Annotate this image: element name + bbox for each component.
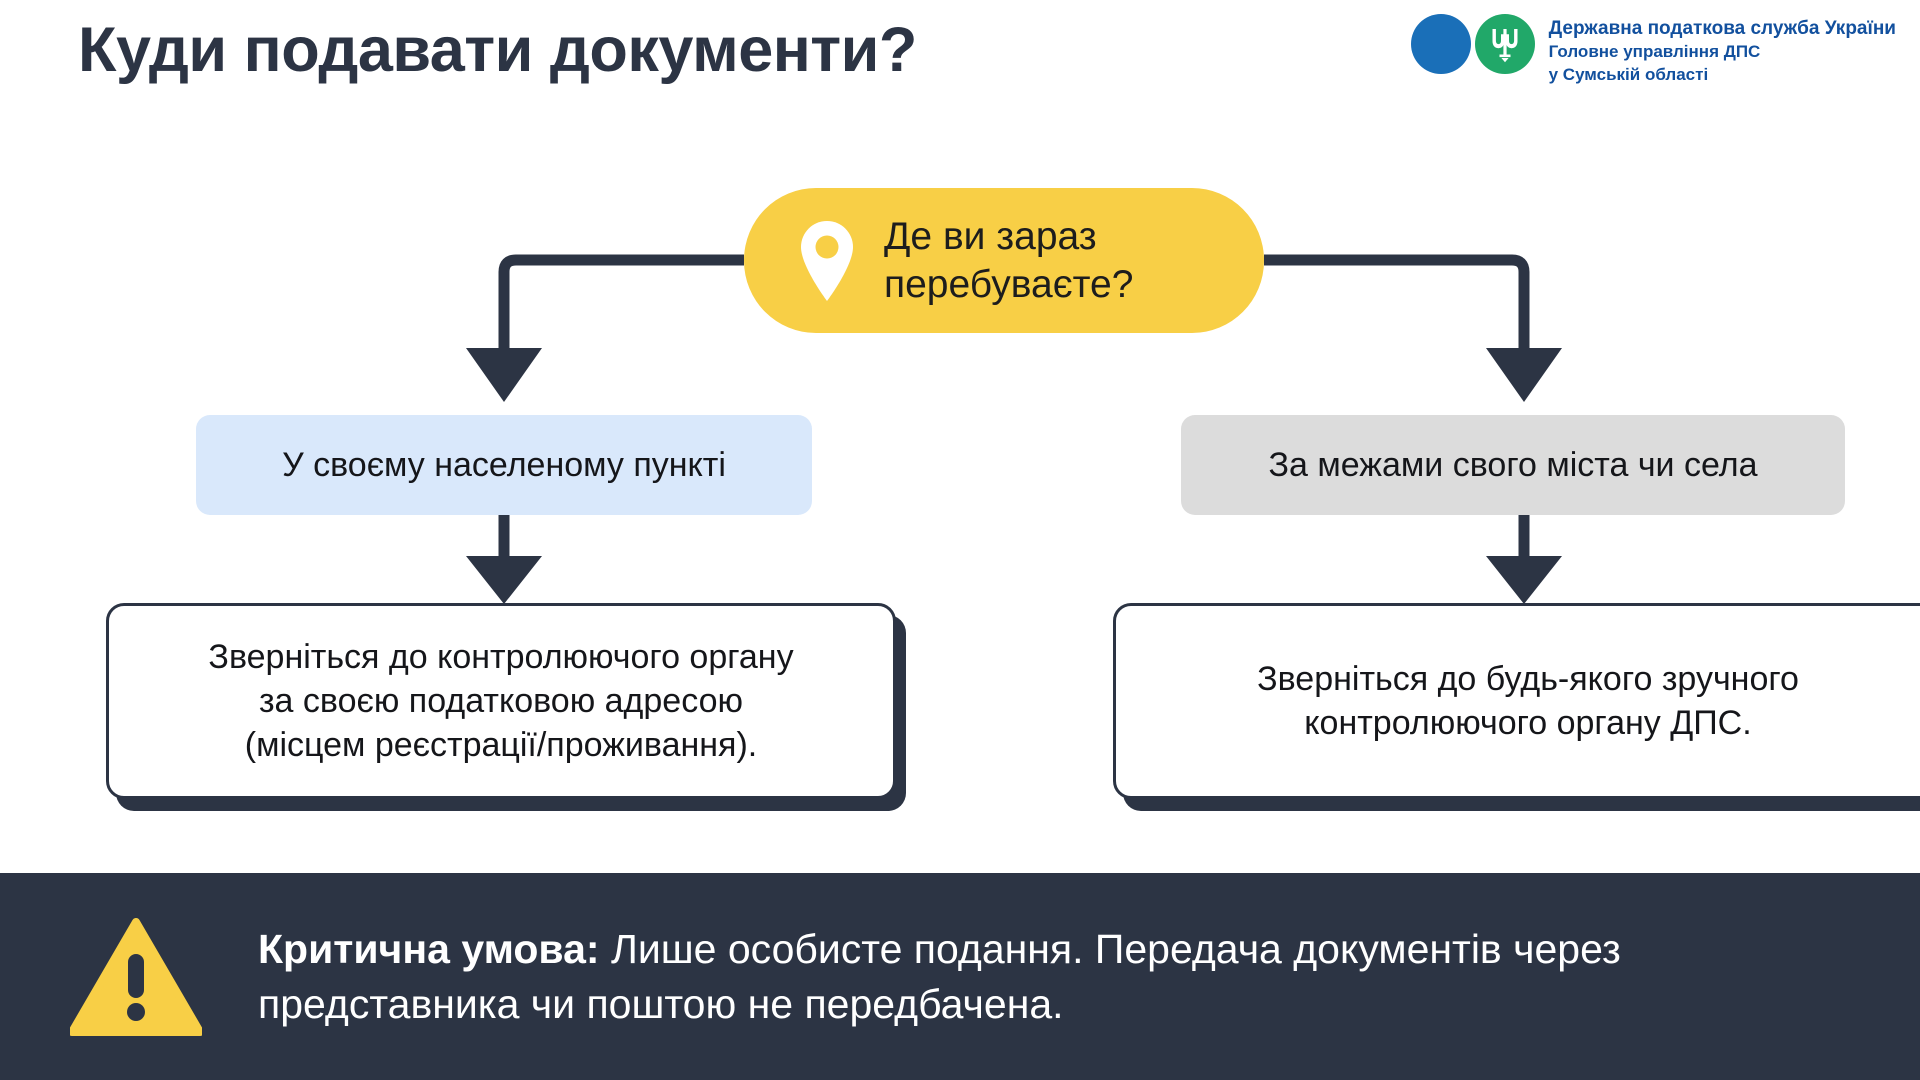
outcome-outside-line-2: контролюючого органу ДПС. [1257, 701, 1799, 745]
banner-text: Критична умова: Лише особисте подання. П… [258, 922, 1818, 1031]
outcome-outside-line-1: Зверніться до будь-якого зручного [1257, 657, 1799, 701]
question-node: Де ви зараз перебуваєте? [744, 188, 1264, 333]
critical-condition-banner: Критична умова: Лише особисте подання. П… [0, 873, 1920, 1080]
question-text: Де ви зараз перебуваєте? [884, 213, 1133, 308]
warning-triangle-icon [70, 918, 202, 1036]
branch-chip-local: У своєму населеному пункті [196, 415, 812, 515]
infographic-page: Куди подавати документи? Державна податк… [0, 0, 1920, 1080]
banner-label: Критична умова: [258, 926, 600, 972]
flowchart: Де ви зараз перебуваєте? У своєму населе… [0, 0, 1920, 880]
outcome-local-line-3: (місцем реєстрації/проживання). [208, 723, 793, 767]
question-line-1: Де ви зараз [884, 213, 1133, 261]
outcome-card-outside: Зверніться до будь-якого зручного контро… [1113, 603, 1920, 799]
outcome-card-local: Зверніться до контролюючого органу за св… [106, 603, 896, 799]
question-line-2: перебуваєте? [884, 261, 1133, 309]
branch-chip-outside: За межами свого міста чи села [1181, 415, 1845, 515]
outcome-local-line-1: Зверніться до контролюючого органу [208, 635, 793, 679]
outcome-local-line-2: за своєю податковою адресою [208, 679, 793, 723]
location-pin-icon [796, 220, 858, 302]
